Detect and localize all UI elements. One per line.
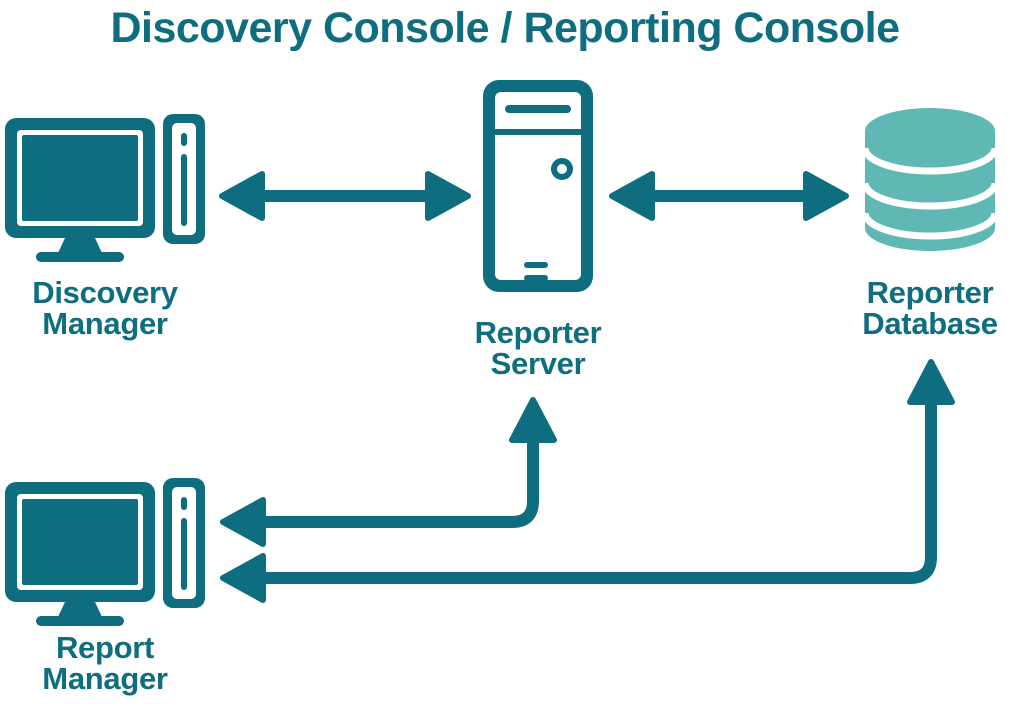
node-reporter-server[interactable]: Reporter Server [475,80,602,381]
arrowhead-left-icon [612,174,652,218]
architecture-diagram: Discovery Console / Reporting Console [0,0,1010,709]
node-label-line1: Reporter [475,315,602,350]
arrowhead-up-icon [512,400,554,440]
database-top-disc [865,108,995,154]
connector-discovery-manager-to-reporter-server [222,174,468,218]
arrowhead-right-icon [806,174,846,218]
server-optical-drive-slot [505,105,571,113]
node-report-manager[interactable]: Report Manager [5,478,205,696]
node-label-line2: Server [491,346,586,381]
monitor-stand-base [36,252,124,262]
diagram-canvas: Discovery Console / Reporting Console [0,0,1010,709]
connector-report-manager-to-reporter-server [223,400,554,544]
database-cylinder-icon [865,108,995,251]
pc-tower-vent-strip [181,154,187,226]
server-led-indicator-2 [524,275,548,281]
connector-line [240,190,450,202]
monitor-screen [22,135,138,221]
node-label-line1: Discovery [32,275,179,310]
arrowhead-up-icon [910,362,952,402]
page-title: Discovery Console / Reporting Console [110,4,899,52]
node-label-line1: Reporter [867,275,994,310]
desktop-computer-icon [5,478,205,626]
node-label-line2: Manager [42,306,168,341]
server-led-indicator-1 [524,262,548,268]
connector-reporter-server-to-reporter-database [612,174,846,218]
pc-tower-drive-slot [181,133,187,146]
node-label-line1: Report [56,630,154,665]
connector-elbow-line [250,420,533,522]
arrowhead-right-icon [428,174,468,218]
node-label-line2: Manager [42,661,168,696]
arrowhead-left-icon [222,174,262,218]
connector-line [630,190,820,202]
server-face [495,92,581,280]
pc-tower-vent-strip [181,518,187,590]
server-tower-icon [483,80,593,292]
connector-elbow-line [250,382,931,578]
node-discovery-manager[interactable]: Discovery Manager [5,114,205,341]
arrowhead-left-icon [223,500,263,544]
server-panel-divider [495,129,581,135]
arrowhead-left-icon [223,556,263,600]
desktop-computer-icon [5,114,205,262]
monitor-screen [22,499,138,585]
node-reporter-database[interactable]: Reporter Database [862,108,998,341]
pc-tower-drive-slot [181,497,187,510]
monitor-stand-base [36,616,124,626]
node-label-line2: Database [862,306,998,341]
connector-report-manager-to-reporter-database [223,362,952,600]
